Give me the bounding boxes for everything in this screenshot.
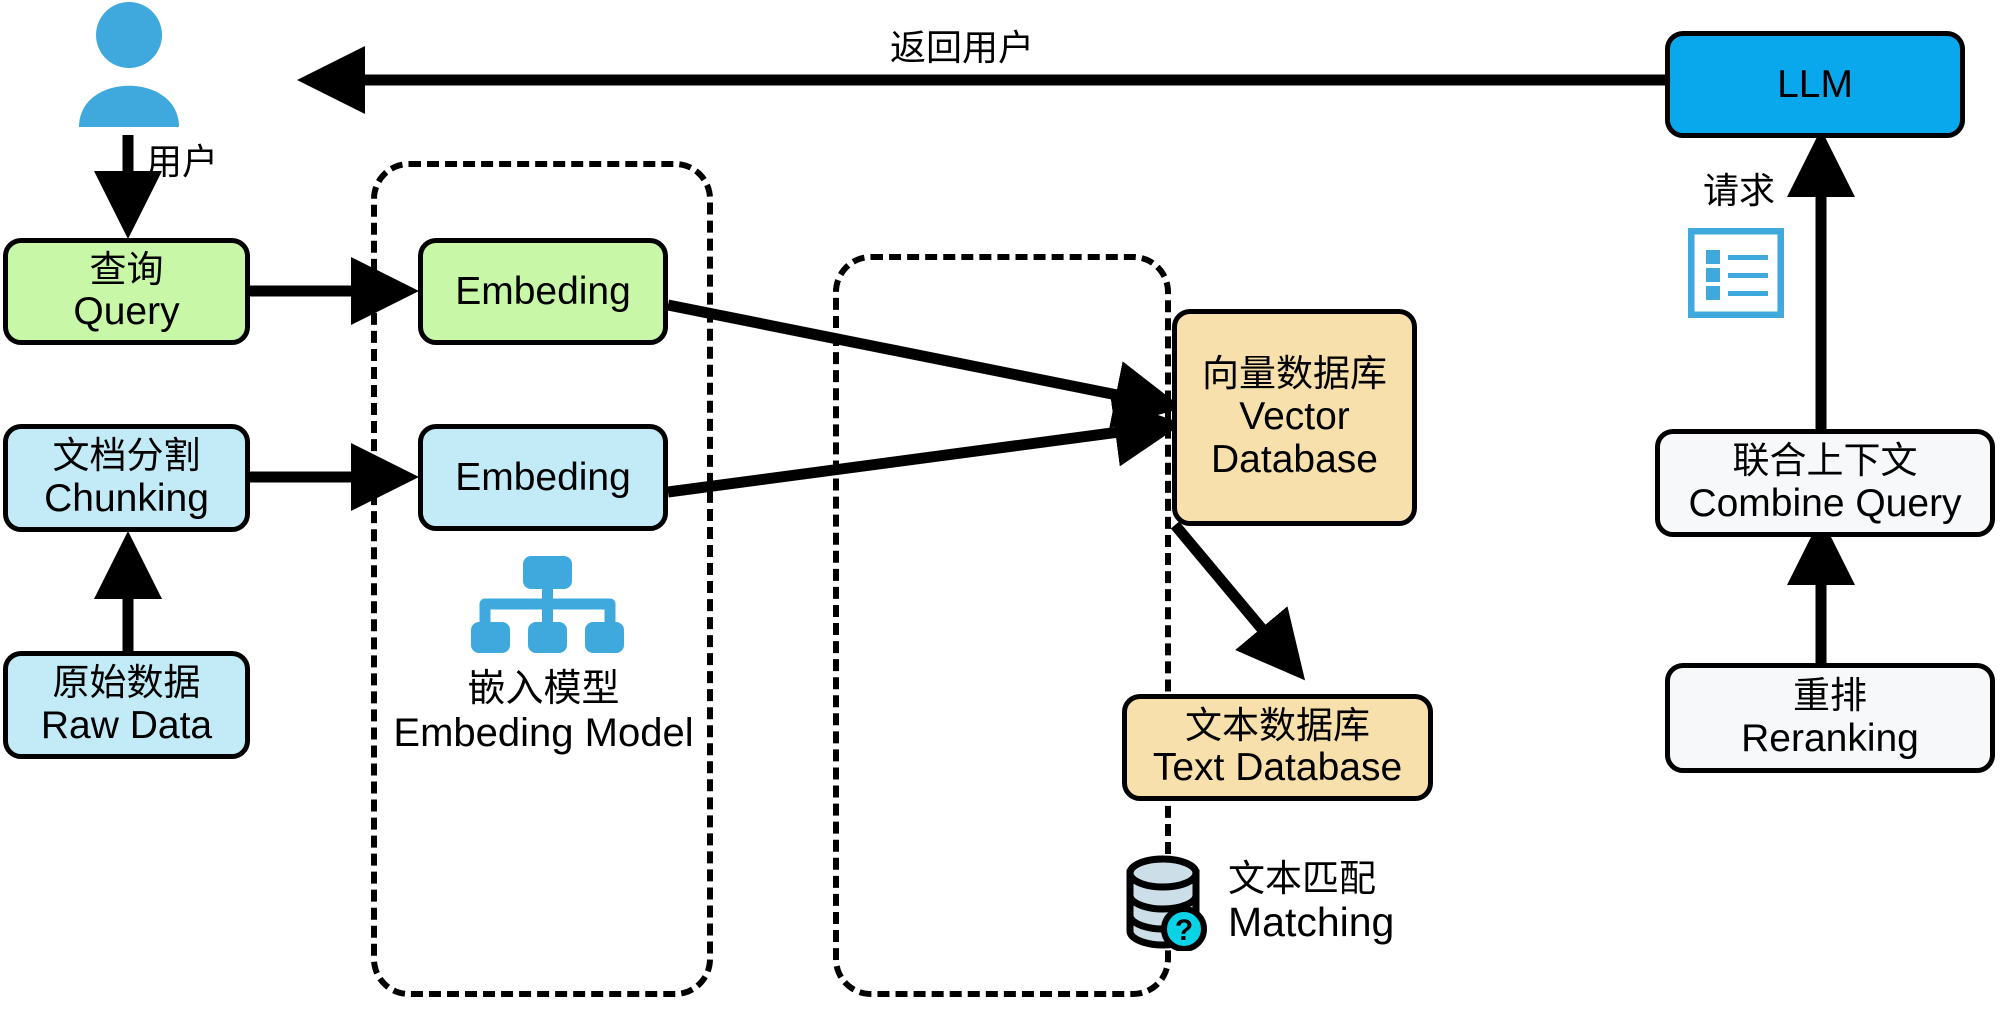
embedding-model-group-label-cn: 嵌入模型 <box>381 668 706 711</box>
node-embedding-bottom-en: Embeding <box>455 456 631 500</box>
node-chunking-cn: 文档分割 <box>53 435 201 476</box>
edge-label-request: 请求 <box>1703 162 1775 214</box>
node-reranking[interactable]: 重排 Reranking <box>1665 663 1995 773</box>
node-raw-data-en: Raw Data <box>41 704 212 748</box>
node-text-database-en: Text Database <box>1153 746 1402 790</box>
node-llm-en: LLM <box>1777 63 1853 107</box>
node-reranking-en: Reranking <box>1741 717 1919 761</box>
arrow-vectordb-to-reranking <box>1175 525 1298 672</box>
node-embedding-bottom[interactable]: Embeding <box>418 424 668 531</box>
node-reranking-cn: 重排 <box>1793 675 1867 716</box>
node-vector-database-en1: Vector <box>1239 395 1350 439</box>
node-vector-database-cn: 向量数据库 <box>1202 353 1387 394</box>
node-chunking[interactable]: 文档分割 Chunking <box>3 424 250 532</box>
node-embedding-top-en: Embeding <box>455 270 631 314</box>
node-combine-query-cn: 联合上下文 <box>1733 440 1918 481</box>
database-group-box <box>833 254 1171 997</box>
node-text-database-cn: 文本数据库 <box>1185 705 1370 746</box>
diagram-canvas: 查询 Query 文档分割 Chunking 原始数据 Raw Data Emb… <box>0 0 2000 1019</box>
hierarchy-icon <box>471 556 624 653</box>
matching-label-cn: 文本匹配 <box>1228 859 1394 900</box>
node-query-cn: 查询 <box>90 249 164 290</box>
node-combine-query-en: Combine Query <box>1688 482 1961 526</box>
svg-text:?: ? <box>1175 914 1193 947</box>
node-embedding-top[interactable]: Embeding <box>418 238 668 345</box>
node-llm[interactable]: LLM <box>1665 31 1965 138</box>
database-question-icon: ? <box>1122 853 1214 951</box>
node-text-database[interactable]: 文本数据库 Text Database <box>1122 694 1433 801</box>
edge-label-user: 用户 <box>146 133 218 185</box>
node-query[interactable]: 查询 Query <box>3 238 250 345</box>
embedding-model-group-label-en: Embeding Model <box>381 711 706 756</box>
node-raw-data[interactable]: 原始数据 Raw Data <box>3 651 250 759</box>
node-combine-query[interactable]: 联合上下文 Combine Query <box>1655 429 1995 537</box>
matching-label-en: Matching <box>1228 900 1394 945</box>
matching-label: 文本匹配 Matching <box>1228 859 1394 945</box>
embedding-model-group-label: 嵌入模型 Embeding Model <box>381 668 706 755</box>
user-icon <box>74 2 184 127</box>
node-raw-data-cn: 原始数据 <box>53 662 201 703</box>
node-chunking-en: Chunking <box>44 477 209 521</box>
node-vector-database-en2: Database <box>1211 438 1378 482</box>
matching-row: ? 文本匹配 Matching <box>1122 853 1394 951</box>
edge-label-return-to-user: 返回用户 <box>890 19 1034 71</box>
node-query-en: Query <box>73 290 179 334</box>
node-vector-database[interactable]: 向量数据库 Vector Database <box>1172 309 1417 526</box>
list-document-icon <box>1688 228 1784 318</box>
